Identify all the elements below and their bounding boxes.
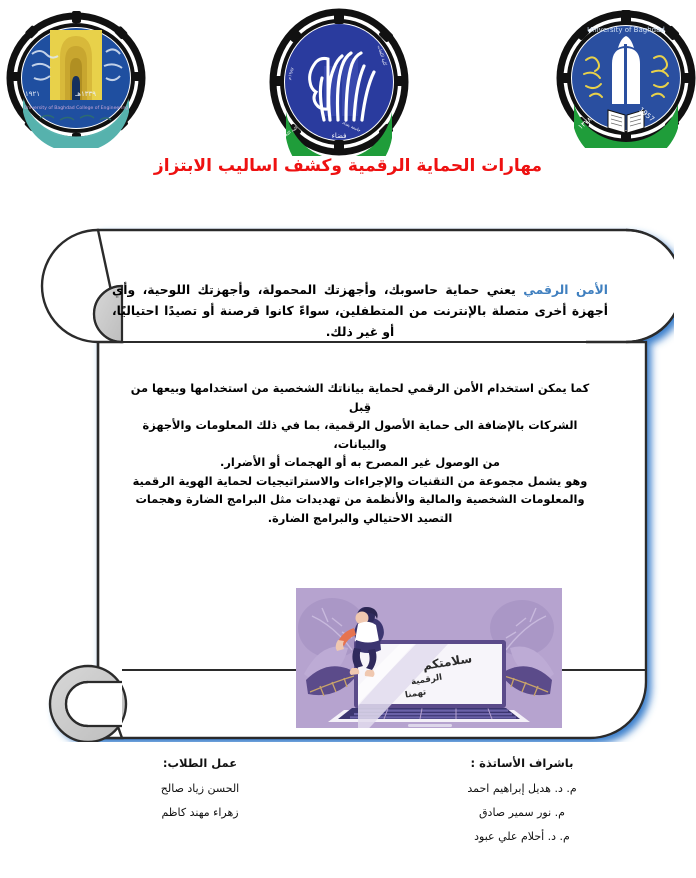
students-heading: عمل الطلاب: bbox=[62, 756, 338, 770]
college-of-engineering-logo: ١٩٢١ ١٣٣٩هـ University of Baghdad Colleg… bbox=[6, 8, 146, 148]
supervisors-heading: باشراف الأساتذة : bbox=[372, 756, 672, 770]
supervisor-name: م. نور سمير صادق bbox=[372, 806, 672, 819]
student-name: زهراء مهند كاظم bbox=[62, 806, 338, 819]
paragraph-body-line: وهو يشمل مجموعة من التقنيات والإجراءات و… bbox=[118, 472, 602, 491]
paragraph-body: كما يمكن استخدام الأمن الرقمي لحماية بيا… bbox=[118, 379, 602, 527]
students-credit: عمل الطلاب: الحسن زياد صالح زهراء مهند ك… bbox=[62, 756, 338, 830]
svg-text:١٩٢١: ١٩٢١ bbox=[25, 90, 40, 98]
credits-section: عمل الطلاب: الحسن زياد صالح زهراء مهند ك… bbox=[0, 756, 696, 878]
paragraph-body-line: من الوصول غير المصرح به أو الهجمات أو ال… bbox=[118, 453, 602, 472]
svg-text:فضاء: فضاء bbox=[332, 132, 347, 140]
university-of-baghdad-logo: University of Baghdad ١٣٧٨ 1957 bbox=[556, 8, 696, 148]
paragraph-intro-highlight: الأمن الرقمي bbox=[523, 283, 608, 297]
page-title: مهارات الحماية الرقمية وكشف اساليب الابت… bbox=[0, 156, 696, 176]
college-of-languages-logo: فضاء كلية اللغات جامعة بغداد ١٩٨٧م كلية … bbox=[268, 8, 410, 156]
svg-text:University of Baghdad College: University of Baghdad College of Enginee… bbox=[24, 105, 129, 111]
svg-text:١٣٣٩هـ: ١٣٣٩هـ bbox=[74, 90, 96, 98]
supervisor-name: م. د. أحلام علي عبود bbox=[372, 830, 672, 843]
digital-safety-illustration: سلامتكم الرقمية تهمنا bbox=[296, 588, 562, 728]
logos-header: ١٩٢١ ١٣٣٩هـ University of Baghdad Colleg… bbox=[0, 0, 696, 155]
student-name: الحسن زياد صالح bbox=[62, 782, 338, 795]
paragraph-body-line: والمعلومات الشخصية والمالية والأنظمة من … bbox=[118, 490, 602, 509]
scroll-banner: الأمن الرقمي يعني حماية حاسوبك، وأجهزتك … bbox=[26, 212, 674, 742]
paragraph-body-line: الشركات بالإضافة الى حماية الأصول الرقمي… bbox=[118, 416, 602, 453]
supervisors-credit: باشراف الأساتذة : م. د. هديل إبراهيم احم… bbox=[372, 756, 672, 854]
paragraph-body-line: التصيد الاحتيالي والبرامج الضارة. bbox=[118, 509, 602, 528]
svg-text:University of Baghdad: University of Baghdad bbox=[587, 26, 665, 34]
paragraph-intro: الأمن الرقمي يعني حماية حاسوبك، وأجهزتك … bbox=[112, 280, 608, 343]
supervisor-name: م. د. هديل إبراهيم احمد bbox=[372, 782, 672, 795]
scroll-content: الأمن الرقمي يعني حماية حاسوبك، وأجهزتك … bbox=[106, 280, 614, 720]
paragraph-body-line: كما يمكن استخدام الأمن الرقمي لحماية بيا… bbox=[118, 379, 602, 416]
